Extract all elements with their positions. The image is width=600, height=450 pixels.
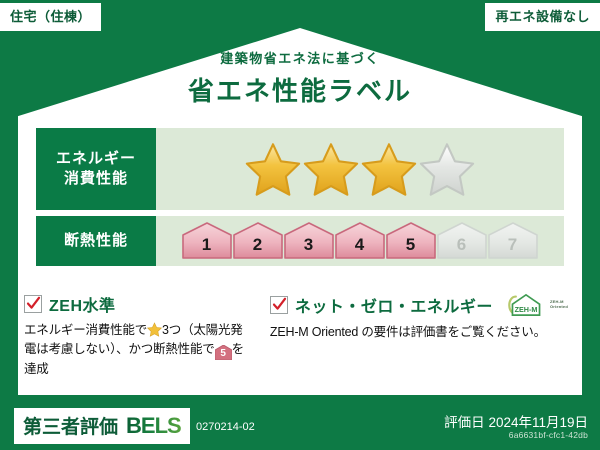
insulation-chip-active: 3	[284, 222, 334, 260]
insulation-chip-value: 1	[202, 235, 211, 260]
inline-level-chip-value: 5	[215, 345, 232, 362]
insulation-level-scale: 1234567	[156, 216, 564, 266]
page-title: 省エネ性能ラベル	[0, 71, 600, 108]
criteria-net-zero-energy: ネット・ゼロ・エネルギー ZEH-M ZEH-M Oriented	[252, 292, 576, 380]
inline-star-icon	[147, 322, 162, 337]
criteria-zeh-body-part1: エネルギー消費性能で	[24, 323, 147, 337]
bels-logo: 第三者評価 BELS	[14, 408, 190, 444]
criteria-zeh-title: ZEH水準	[49, 292, 116, 316]
zeh-m-logo-caption: ZEH-M Oriented	[550, 300, 568, 309]
bels-certificate-number: 0270214-02	[196, 421, 255, 433]
row-insulation-label: 断熱性能	[36, 216, 156, 266]
insulation-chip-active: 5	[386, 222, 436, 260]
row-energy-consumption: エネルギー 消費性能	[36, 128, 564, 210]
rating-rows: エネルギー 消費性能 断熱性能 1234567	[36, 128, 564, 272]
row-insulation: 断熱性能 1234567	[36, 216, 564, 266]
badge-building-type: 住宅（住棟）	[0, 3, 101, 31]
criteria-nze-title: ネット・ゼロ・エネルギー	[295, 293, 493, 317]
evaluation-date-label: 評価日	[444, 415, 485, 430]
insulation-chips: 1234567	[182, 222, 539, 260]
insulation-chip-active: 2	[233, 222, 283, 260]
insulation-chip-value: 2	[253, 235, 262, 260]
row-energy-label: エネルギー 消費性能	[36, 128, 156, 210]
insulation-chip-value: 6	[457, 235, 466, 260]
insulation-chip-value: 3	[304, 235, 313, 260]
insulation-chip-inactive: 6	[437, 222, 487, 260]
criteria-zeh-header: ZEH水準	[24, 292, 244, 316]
title-subtitle: 建築物省エネ法に基づく	[0, 48, 600, 67]
footer-bar: 第三者評価 BELS 0270214-02 評価日 2024年11月19日 6a…	[0, 402, 600, 450]
document-hash: 6a6631bf-cfc1-42db	[509, 430, 588, 440]
insulation-chip-active: 1	[182, 222, 232, 260]
row-insulation-label-line1: 断熱性能	[64, 231, 128, 251]
criteria-section: ZEH水準 エネルギー消費性能で 3つ（太陽光発電は考慮しない）、かつ断熱性能で…	[24, 292, 576, 380]
checkbox-zeh-standard[interactable]	[24, 295, 42, 313]
insulation-chip-value: 7	[508, 235, 517, 260]
insulation-chip-inactive: 7	[488, 222, 538, 260]
zeh-m-house-icon: ZEH-M	[504, 292, 548, 318]
evaluation-date: 評価日 2024年11月19日	[444, 411, 588, 431]
bels-wordmark: BELS	[126, 413, 181, 439]
criteria-nze-body: ZEH-M Oriented の要件は評価書をご覧ください。	[270, 323, 568, 342]
insulation-chip-value: 4	[355, 235, 364, 260]
energy-label-root: 住宅（住棟） 再エネ設備なし 建築物省エネ法に基づく 省エネ性能ラベル エネルギ…	[0, 0, 600, 450]
insulation-chip-value: 5	[406, 235, 415, 260]
zeh-m-logo: ZEH-M ZEH-M Oriented	[504, 292, 568, 318]
title-block: 建築物省エネ法に基づく 省エネ性能ラベル	[0, 48, 600, 108]
bels-japanese-label: 第三者評価	[23, 412, 118, 439]
row-energy-label-line1: エネルギー	[56, 149, 136, 169]
svg-text:ZEH-M: ZEH-M	[515, 305, 538, 314]
star-filled-icon	[361, 141, 417, 197]
energy-star-rating	[156, 128, 564, 210]
star-filled-icon	[245, 141, 301, 197]
insulation-chip-active: 4	[335, 222, 385, 260]
row-energy-label-line2: 消費性能	[64, 169, 128, 189]
evaluation-date-value: 2024年11月19日	[488, 415, 588, 430]
zeh-m-caption-line2: Oriented	[550, 304, 568, 309]
criteria-zeh-standard: ZEH水準 エネルギー消費性能で 3つ（太陽光発電は考慮しない）、かつ断熱性能で…	[24, 292, 252, 380]
checkbox-net-zero-energy[interactable]	[270, 296, 288, 314]
star-empty-icon	[419, 141, 475, 197]
criteria-zeh-body: エネルギー消費性能で 3つ（太陽光発電は考慮しない）、かつ断熱性能で 5を達成	[24, 321, 244, 380]
star-filled-icon	[303, 141, 359, 197]
inline-level-chip: 5	[215, 345, 232, 360]
badge-renewable-energy: 再エネ設備なし	[485, 3, 600, 31]
criteria-nze-header: ネット・ゼロ・エネルギー ZEH-M ZEH-M Oriented	[270, 292, 568, 318]
